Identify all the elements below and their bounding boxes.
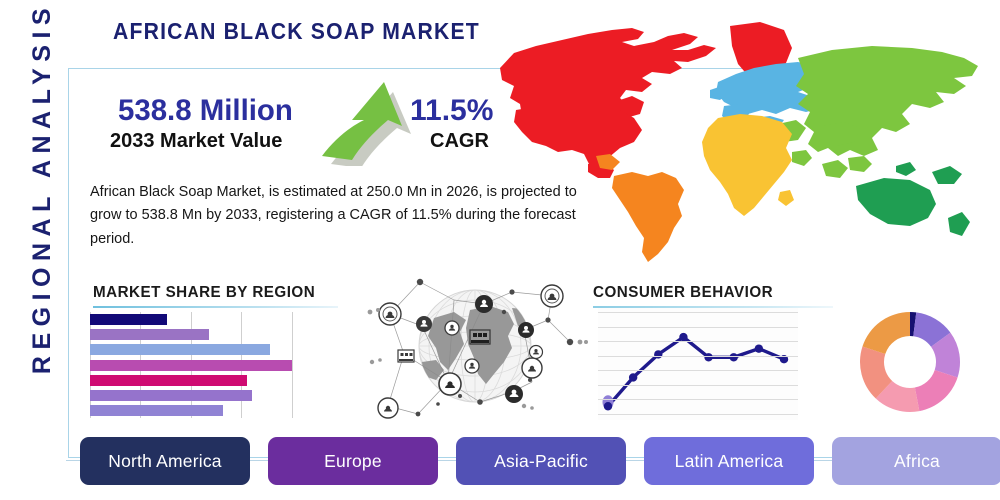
pill-connector [250, 460, 268, 461]
growth-arrow-icon [322, 82, 418, 166]
description-text: African Black Soap Market, is estimated … [90, 181, 580, 251]
section-header-consumer-behavior: CONSUMER BEHAVIOR [593, 284, 773, 302]
line-chart-gridline [598, 312, 798, 313]
pill-connector [814, 460, 832, 461]
donut-chart [858, 310, 962, 414]
region-pill-africa[interactable]: Africa [832, 437, 1000, 485]
map-region-africa [702, 114, 794, 216]
bar-chart-bar [90, 314, 167, 325]
kpi-row: 538.8 Million 2033 Market Value 11.5% CA… [110, 94, 530, 166]
cagr-number: 11.5% [410, 94, 493, 128]
network-globe-svg [362, 266, 588, 426]
cagr-label: CAGR [430, 130, 489, 153]
bar-chart-bars [90, 312, 302, 418]
region-pill-asia-pacific[interactable]: Asia-Pacific [456, 437, 626, 485]
pill-connector [626, 460, 644, 461]
side-label-regional-analysis: REGIONAL ANALYSIS [20, 0, 64, 398]
bar-chart-bar [90, 344, 270, 355]
donut-segment [915, 370, 958, 411]
pill-connector [66, 460, 80, 461]
region-pill-latin-america[interactable]: Latin America [644, 437, 814, 485]
market-value-number: 538.8 Million [118, 94, 293, 128]
bar-chart-bar [90, 329, 209, 340]
donut-chart-svg [858, 310, 962, 414]
line-chart-consumer-behavior [598, 308, 798, 420]
map-region-oceania [856, 162, 970, 236]
line-chart-gridline [598, 327, 798, 328]
region-pill-europe[interactable]: Europe [268, 437, 438, 485]
line-chart-gridline [598, 370, 798, 371]
bar-chart-bar [90, 390, 252, 401]
network-globe-icon [362, 266, 588, 426]
bar-chart-bar [90, 405, 223, 416]
page-title: AFRICAN BLACK SOAP MARKET [113, 18, 480, 45]
line-chart-gridline [598, 356, 798, 357]
region-pill-north-america[interactable]: North America [80, 437, 250, 485]
line-chart-gridline [598, 399, 798, 400]
map-region-asia [774, 46, 978, 178]
line-chart-gridline [598, 341, 798, 342]
line-chart-gridline [598, 414, 798, 415]
region-pill-row: North AmericaEuropeAsia-PacificLatin Ame… [80, 437, 940, 485]
infographic-root: REGIONAL ANALYSIS AFRICAN BLACK SOAP MAR… [0, 0, 1000, 500]
pill-connector [438, 460, 456, 461]
market-value-label: 2033 Market Value [110, 130, 282, 153]
growth-arrow-svg [322, 82, 418, 166]
section-header-market-share: MARKET SHARE BY REGION [93, 284, 315, 302]
section-rule-market-share [93, 306, 338, 308]
bar-chart-market-share [90, 312, 302, 418]
donut-segment [862, 312, 910, 354]
line-chart-gridlines [598, 308, 798, 420]
line-chart-gridline [598, 385, 798, 386]
bar-chart-bar [90, 375, 247, 386]
bar-chart-bar [90, 360, 292, 371]
